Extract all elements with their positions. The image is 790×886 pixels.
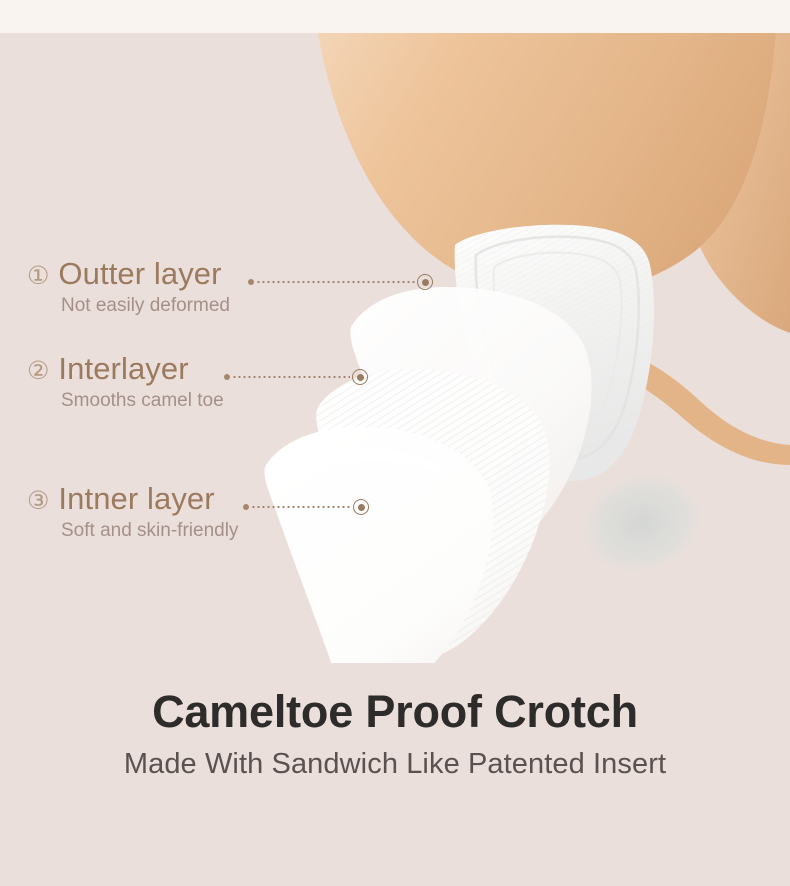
leader-start-dot-2 [224,374,230,380]
leader-ring-marker-1 [417,274,433,290]
callout-title-1: Outter layer [58,258,221,291]
leader-line-1 [248,274,433,290]
callout-title-2: Interlayer [58,353,188,386]
leader-line-2 [224,369,368,385]
leader-ring-marker-2 [352,369,368,385]
callout-interlayer: ② Interlayer Smooths camel toe [27,353,224,412]
leader-line-3 [243,499,369,515]
page-headline: Cameltoe Proof Crotch [0,686,790,738]
leader-start-dot-3 [243,504,249,510]
callout-inner-layer: ③ Intner layer Soft and skin-friendly [27,483,238,542]
leader-ring-marker-3 [353,499,369,515]
product-photo [0,33,790,663]
top-white-strip [0,0,790,33]
callout-number-3: ③ [27,488,49,513]
leader-dashes-1 [256,281,415,283]
callout-subtitle-3: Soft and skin-friendly [61,520,238,543]
leader-dashes-3 [251,506,351,508]
product-infographic: ① Outter layer Not easily deformed ② Int… [0,0,790,886]
callout-1-head: ① Outter layer [27,258,230,291]
page-subheadline: Made With Sandwich Like Patented Insert [0,747,790,782]
callout-subtitle-2: Smooths camel toe [61,390,224,413]
footer-text-block: Cameltoe Proof Crotch Made With Sandwich… [0,686,790,782]
callout-2-head: ② Interlayer [27,353,224,386]
leader-start-dot-1 [248,279,254,285]
callout-number-2: ② [27,358,49,383]
callout-title-3: Intner layer [58,483,214,516]
callout-number-1: ① [27,263,49,288]
leader-dashes-2 [232,376,350,378]
callout-outer-layer: ① Outter layer Not easily deformed [27,258,230,317]
callout-subtitle-1: Not easily deformed [61,295,230,318]
callout-3-head: ③ Intner layer [27,483,238,516]
pad-layer-inner [264,427,492,663]
